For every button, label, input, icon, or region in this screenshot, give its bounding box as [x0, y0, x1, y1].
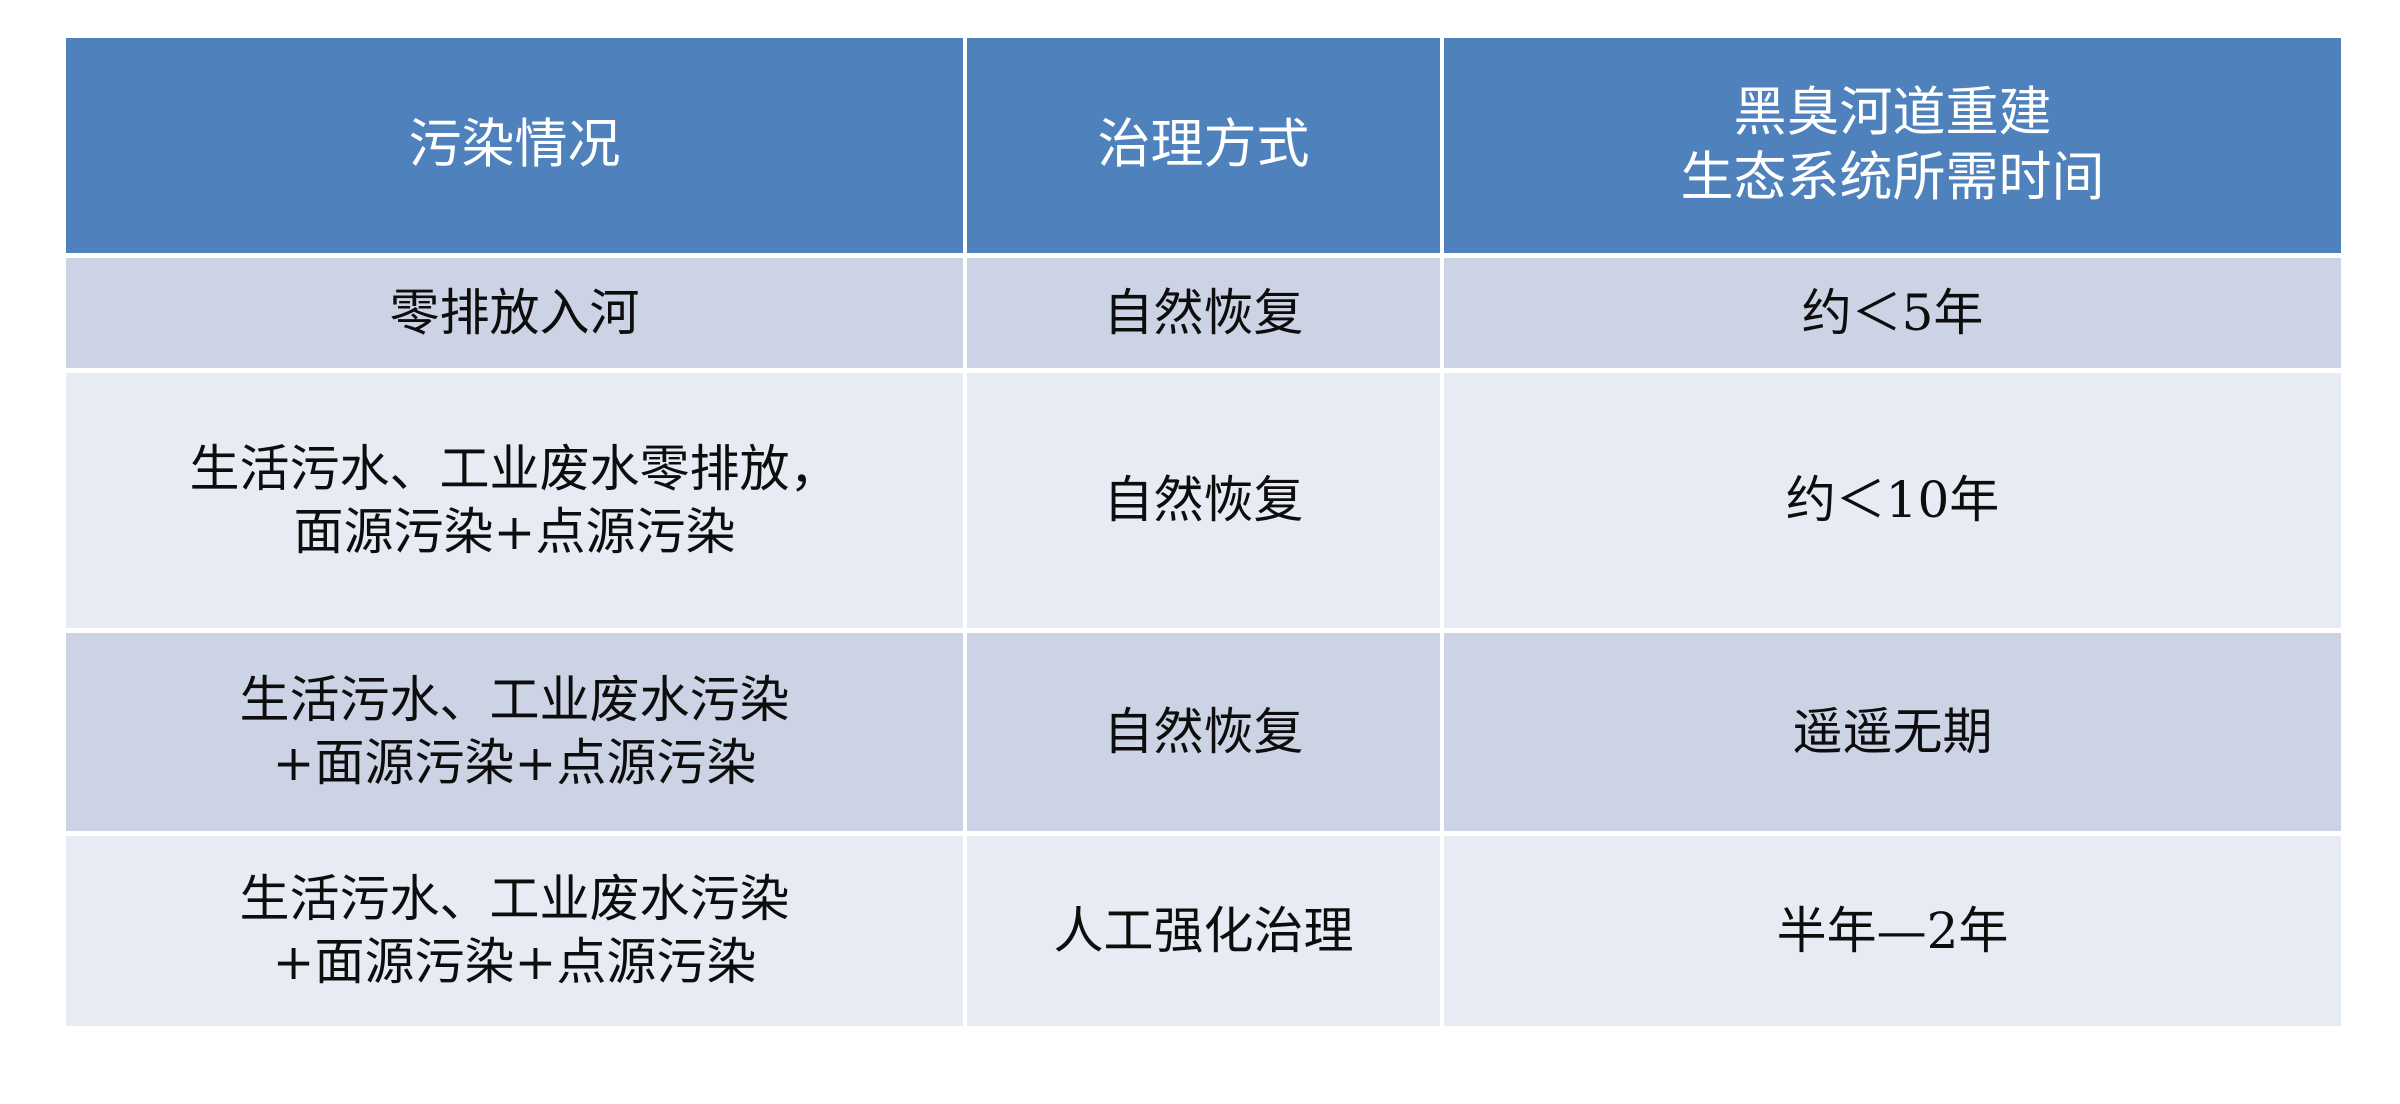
- table-row: 生活污水、工业废水零排放， 面源污染+点源污染 自然恢复 约＜10年: [66, 373, 2341, 628]
- cell-ecosystem-rebuild-time: 约＜10年: [1444, 373, 2341, 628]
- cell-line: 自然恢复: [973, 282, 1434, 345]
- cell-line: +面源污染+点源污染: [72, 931, 957, 994]
- cell-pollution-situation: 生活污水、工业废水污染 +面源污染+点源污染: [66, 836, 963, 1026]
- cell-line: 生活污水、工业废水污染: [72, 669, 957, 732]
- cell-ecosystem-rebuild-time: 约＜5年: [1444, 258, 2341, 368]
- column-header-pollution-situation: 污染情况: [66, 38, 963, 253]
- cell-line: 自然恢复: [973, 469, 1434, 532]
- cell-line: 遥遥无期: [1450, 701, 2335, 764]
- column-header-treatment-method: 治理方式: [967, 38, 1440, 253]
- column-header-ecosystem-rebuild-time-line-2: 生态系统所需时间: [1454, 146, 2331, 211]
- table-header: 污染情况 治理方式 黑臭河道重建 生态系统所需时间: [66, 38, 2341, 253]
- column-header-ecosystem-rebuild-time-line-1: 黑臭河道重建: [1454, 81, 2331, 146]
- cell-ecosystem-rebuild-time: 遥遥无期: [1444, 633, 2341, 831]
- cell-pollution-situation: 生活污水、工业废水零排放， 面源污染+点源污染: [66, 373, 963, 628]
- table-row: 生活污水、工业废水污染 +面源污染+点源污染 人工强化治理 半年—2年: [66, 836, 2341, 1026]
- cell-line: 自然恢复: [973, 701, 1434, 764]
- cell-pollution-situation: 零排放入河: [66, 258, 963, 368]
- cell-line: 生活污水、工业废水零排放，: [72, 438, 957, 501]
- pollution-treatment-table: 污染情况 治理方式 黑臭河道重建 生态系统所需时间 零排放入河 自然恢复: [62, 33, 2345, 1031]
- cell-line: 约＜5年: [1450, 282, 2335, 345]
- table-header-row: 污染情况 治理方式 黑臭河道重建 生态系统所需时间: [66, 38, 2341, 253]
- column-header-pollution-situation-line-1: 污染情况: [76, 113, 953, 178]
- column-header-ecosystem-rebuild-time: 黑臭河道重建 生态系统所需时间: [1444, 38, 2341, 253]
- table-row: 生活污水、工业废水污染 +面源污染+点源污染 自然恢复 遥遥无期: [66, 633, 2341, 831]
- table-row: 零排放入河 自然恢复 约＜5年: [66, 258, 2341, 368]
- slide-canvas: 污染情况 治理方式 黑臭河道重建 生态系统所需时间 零排放入河 自然恢复: [0, 0, 2400, 1104]
- cell-line: 约＜10年: [1450, 469, 2335, 532]
- table-body: 零排放入河 自然恢复 约＜5年 生活污水、工业废水零排放， 面源污染+点源污染 …: [66, 258, 2341, 1026]
- cell-treatment-method: 自然恢复: [967, 633, 1440, 831]
- cell-treatment-method: 人工强化治理: [967, 836, 1440, 1026]
- cell-line: 面源污染+点源污染: [72, 501, 957, 564]
- column-header-treatment-method-line-1: 治理方式: [977, 113, 1430, 178]
- cell-line: 生活污水、工业废水污染: [72, 868, 957, 931]
- cell-ecosystem-rebuild-time: 半年—2年: [1444, 836, 2341, 1026]
- cell-treatment-method: 自然恢复: [967, 373, 1440, 628]
- cell-treatment-method: 自然恢复: [967, 258, 1440, 368]
- cell-line: 人工强化治理: [973, 900, 1434, 963]
- cell-line: 零排放入河: [72, 282, 957, 345]
- cell-line: +面源污染+点源污染: [72, 732, 957, 795]
- cell-pollution-situation: 生活污水、工业废水污染 +面源污染+点源污染: [66, 633, 963, 831]
- cell-line: 半年—2年: [1450, 900, 2335, 963]
